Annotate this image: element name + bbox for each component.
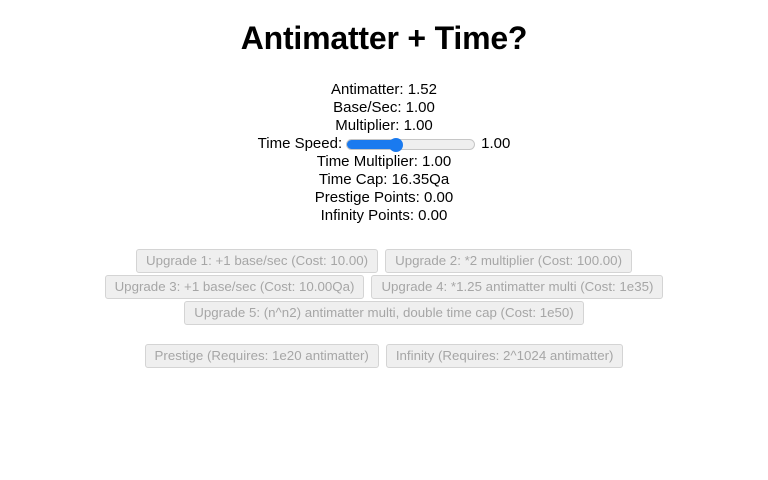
stat-prestige-points: Prestige Points: 0.00 [0, 189, 768, 207]
page-title: Antimatter + Time? [0, 0, 768, 54]
upgrade-row-3: Upgrade 5: (n^n2) antimatter multi, doub… [0, 301, 768, 325]
upgrade-1-button[interactable]: Upgrade 1: +1 base/sec (Cost: 10.00) [136, 249, 378, 273]
time-speed-value: 1.00 [481, 135, 510, 153]
stat-base-per-sec: Base/Sec: 1.00 [0, 99, 768, 117]
upgrade-5-button[interactable]: Upgrade 5: (n^n2) antimatter multi, doub… [184, 301, 583, 325]
stat-antimatter: Antimatter: 1.52 [0, 81, 768, 99]
time-speed-row: Time Speed: 1.00 [0, 135, 768, 153]
upgrade-3-button[interactable]: Upgrade 3: +1 base/sec (Cost: 10.00Qa) [105, 275, 365, 299]
stat-time-cap: Time Cap: 16.35Qa [0, 171, 768, 189]
section-spacer [0, 327, 768, 344]
stat-infinity-points: Infinity Points: 0.00 [0, 207, 768, 225]
reset-row: Prestige (Requires: 1e20 antimatter) Inf… [0, 344, 768, 368]
stat-time-multiplier: Time Multiplier: 1.00 [0, 153, 768, 171]
game-page: Antimatter + Time? Antimatter: 1.52 Base… [0, 0, 768, 480]
stats-panel: Antimatter: 1.52 Base/Sec: 1.00 Multipli… [0, 81, 768, 225]
stat-multiplier: Multiplier: 1.00 [0, 117, 768, 135]
infinity-button[interactable]: Infinity (Requires: 2^1024 antimatter) [386, 344, 624, 368]
prestige-button[interactable]: Prestige (Requires: 1e20 antimatter) [145, 344, 379, 368]
time-speed-slider[interactable] [346, 138, 475, 151]
upgrade-2-button[interactable]: Upgrade 2: *2 multiplier (Cost: 100.00) [385, 249, 632, 273]
time-speed-label: Time Speed: [258, 135, 343, 153]
upgrades-panel: Upgrade 1: +1 base/sec (Cost: 10.00) Upg… [0, 249, 768, 368]
upgrade-4-button[interactable]: Upgrade 4: *1.25 antimatter multi (Cost:… [371, 275, 663, 299]
upgrade-row-1: Upgrade 1: +1 base/sec (Cost: 10.00) Upg… [0, 249, 768, 273]
upgrade-row-2: Upgrade 3: +1 base/sec (Cost: 10.00Qa) U… [0, 275, 768, 299]
